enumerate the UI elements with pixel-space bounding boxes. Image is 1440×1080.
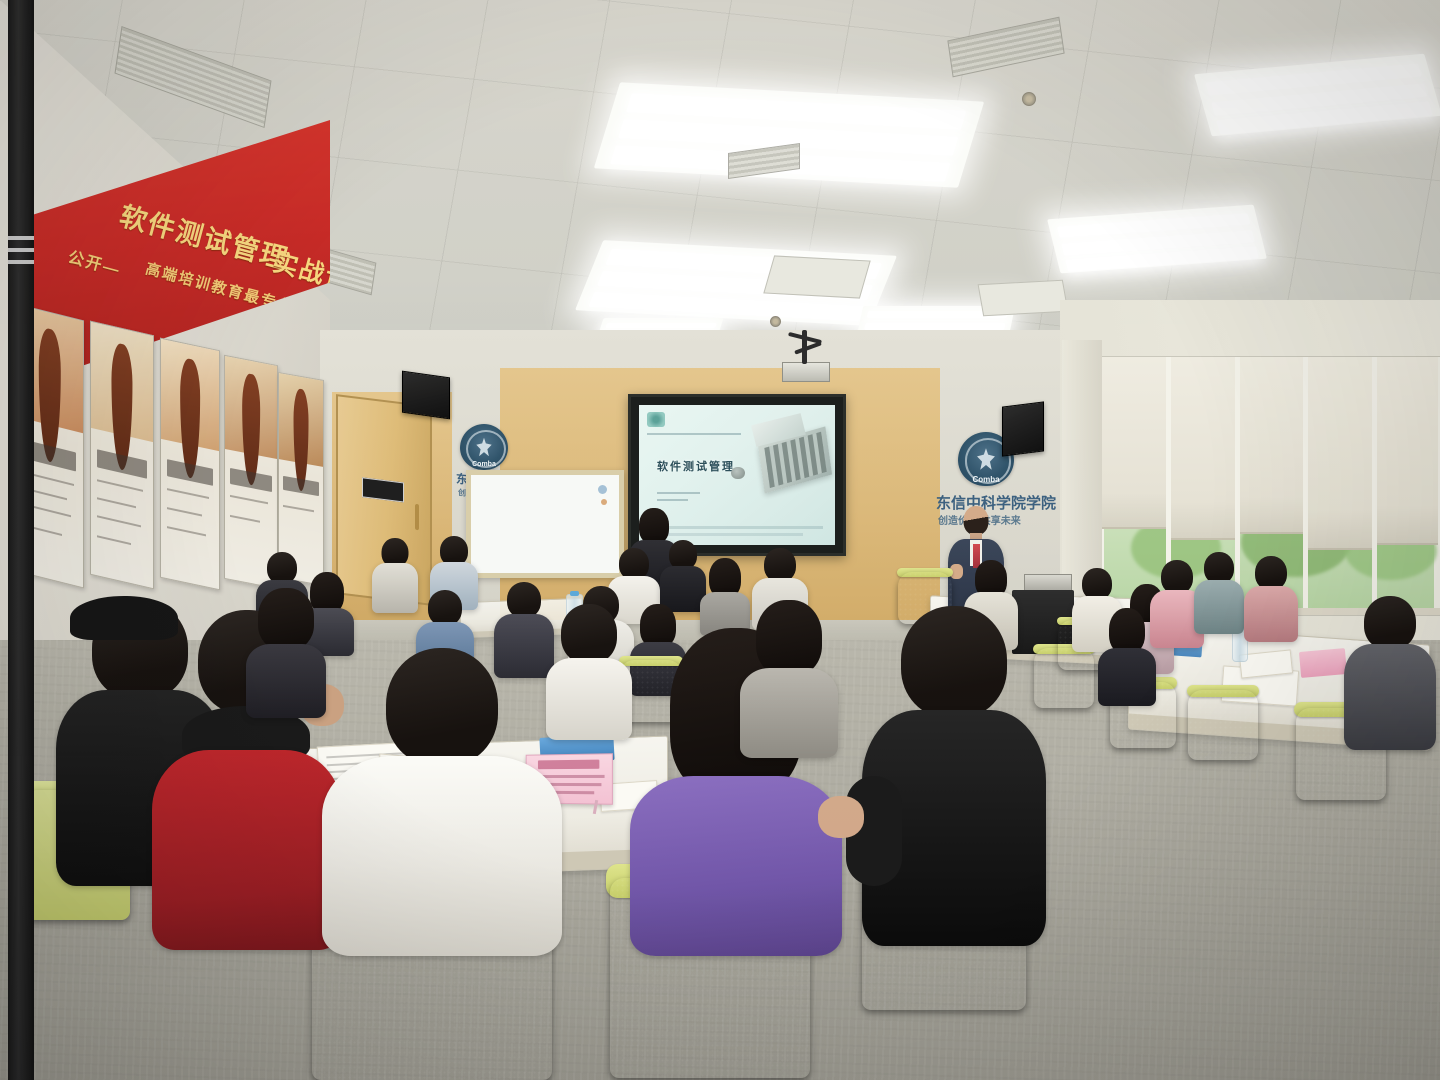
wall-poster: [160, 338, 220, 591]
attendee-torso: [1244, 586, 1298, 642]
attendee-torso: [1344, 644, 1436, 750]
comba-brand-text: Comba: [460, 461, 508, 468]
slide-mouse-image: [731, 467, 745, 480]
attendee-front-black: [862, 606, 1046, 936]
attendee-torso: [1098, 648, 1156, 706]
comba-brand-text: Comba: [958, 475, 1014, 484]
attendee-head: [386, 648, 498, 766]
attendee-head: [901, 606, 1007, 718]
window-blind[interactable]: [1100, 357, 1165, 529]
window-blind[interactable]: [1238, 357, 1303, 534]
banner-title: 软件测试管理: [116, 194, 294, 277]
attendee-torso: [152, 750, 342, 950]
attendee-head: [561, 604, 617, 664]
window-blind[interactable]: [1376, 357, 1438, 545]
attendee-hair: [756, 600, 822, 676]
attendee-head: [428, 590, 462, 626]
window-mullion: [1303, 357, 1308, 615]
attendee-head: [764, 548, 796, 582]
window-blind[interactable]: [1169, 357, 1234, 540]
attendee-hair: [258, 588, 314, 650]
sprinkler-head: [770, 316, 781, 327]
attendee-torso: [546, 658, 632, 740]
comba-logo-left: Comba: [460, 424, 508, 470]
chair[interactable]: [1188, 690, 1258, 760]
attendee: [1194, 552, 1244, 632]
ceiling-access-panel: [978, 280, 1069, 317]
slide-header-rule: [647, 433, 741, 435]
attendee-hand: [818, 796, 864, 838]
wall-speaker-right: [1002, 401, 1044, 456]
attendee-torso: [1194, 580, 1244, 634]
attendee: [372, 538, 418, 610]
attendee: [1098, 608, 1156, 702]
attendee-torso: [740, 668, 838, 758]
attendee-torso: [246, 644, 326, 718]
door-sign-plate: [362, 478, 404, 503]
attendee-front-white: [322, 648, 562, 938]
attendee: [1344, 596, 1436, 746]
structural-post: [8, 0, 34, 1080]
attendee-head: [1161, 560, 1193, 594]
attendee-head: [1255, 556, 1287, 590]
presenter-head: [964, 506, 989, 535]
slide-byline: [657, 492, 700, 494]
whiteboard-marking: [598, 485, 607, 494]
classroom-photo: 软件测试管理 实战课程 公开— 高端培训教育最专业品质服务商: [0, 0, 1440, 1080]
pink-card: [1299, 648, 1347, 678]
attendee: [1244, 556, 1298, 640]
window-blind[interactable]: [1307, 357, 1372, 550]
ceiling-access-panel: [763, 255, 870, 298]
attendee: [246, 588, 326, 712]
whiteboard: [466, 470, 624, 578]
assistant-hair: [639, 508, 669, 544]
attendee-head: [507, 582, 541, 618]
sprinkler-head: [1022, 92, 1036, 106]
wall-speaker-left: [402, 371, 450, 420]
attendee: [546, 604, 632, 734]
attendee-torso: [372, 563, 418, 613]
attendee-head: [1364, 596, 1416, 650]
attendee-torso: [630, 776, 842, 956]
door-handle[interactable]: [415, 504, 419, 530]
wall-poster: [90, 321, 154, 590]
whiteboard-marking: [601, 499, 607, 505]
ceiling-projector: [782, 362, 830, 382]
attendee: [740, 600, 838, 750]
window-mullion: [1372, 357, 1377, 615]
banner-left-label: 公开—: [66, 243, 124, 280]
slide-logo-icon: [647, 412, 665, 427]
attendee-torso: [322, 756, 562, 956]
slide-byline: [657, 499, 688, 501]
slide-title: 软件测试管理: [657, 458, 735, 474]
